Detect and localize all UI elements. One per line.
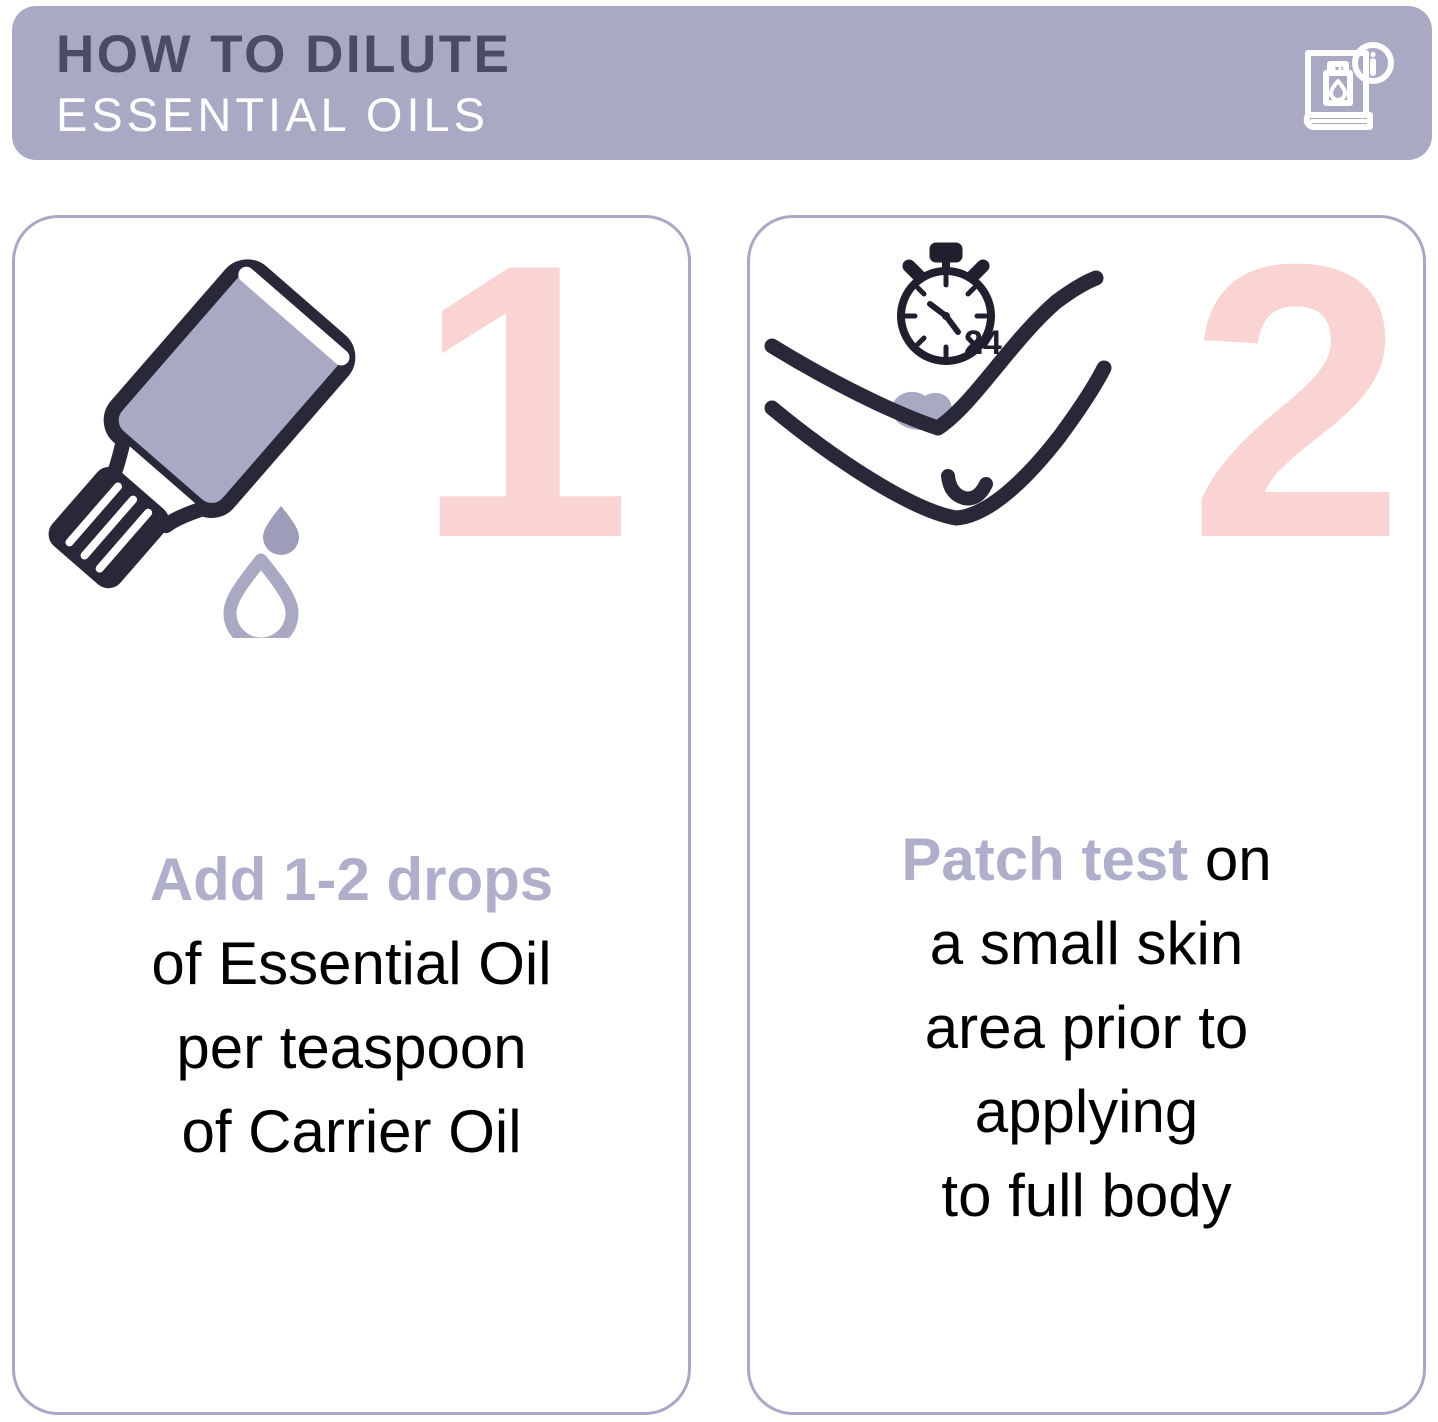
step-number-2: 2 <box>1188 236 1399 566</box>
step-2-illustration-area: 2 <box>750 218 1423 648</box>
svg-text:24: 24 <box>964 324 1002 362</box>
steps-container: 1 <box>12 215 1426 1415</box>
step-1-caption: Add 1-2 drops of Essential Oil per teasp… <box>15 838 688 1174</box>
page-subtitle: ESSENTIAL OILS <box>56 86 512 144</box>
header-text-block: HOW TO DILUTE ESSENTIAL OILS <box>56 24 512 144</box>
header-bar: HOW TO DILUTE ESSENTIAL OILS <box>12 6 1432 160</box>
step-1-line-2: per teaspoon <box>33 1006 670 1090</box>
step-2-first-line: Patch test on <box>768 818 1405 902</box>
step-1-line-1: of Essential Oil <box>33 922 670 1006</box>
step-1-highlight: Add 1-2 drops <box>33 838 670 922</box>
step-card-2[interactable]: 2 <box>747 215 1426 1415</box>
step-card-1[interactable]: 1 <box>12 215 691 1415</box>
step-1-illustration-area: 1 <box>15 218 688 648</box>
step-1-line-3: of Carrier Oil <box>33 1090 670 1174</box>
step-number-1: 1 <box>415 236 626 566</box>
step-2-caption: Patch test on a small skin area prior to… <box>750 818 1423 1238</box>
step-2-line-3: applying <box>768 1070 1405 1154</box>
step-2-line-4: to full body <box>768 1154 1405 1238</box>
step-2-line-2: area prior to <box>768 986 1405 1070</box>
page-title: HOW TO DILUTE <box>56 24 512 86</box>
step-2-first-line-rest: on <box>1188 826 1271 893</box>
bent-arm-patch-test-with-24h-stopwatch-icon: 24 <box>760 238 1150 573</box>
step-2-highlight: Patch test <box>901 826 1188 893</box>
tilted-dropper-bottle-with-drops-icon <box>29 238 359 643</box>
step-2-line-1: a small skin <box>768 902 1405 986</box>
oil-guide-book-info-icon <box>1294 33 1398 137</box>
